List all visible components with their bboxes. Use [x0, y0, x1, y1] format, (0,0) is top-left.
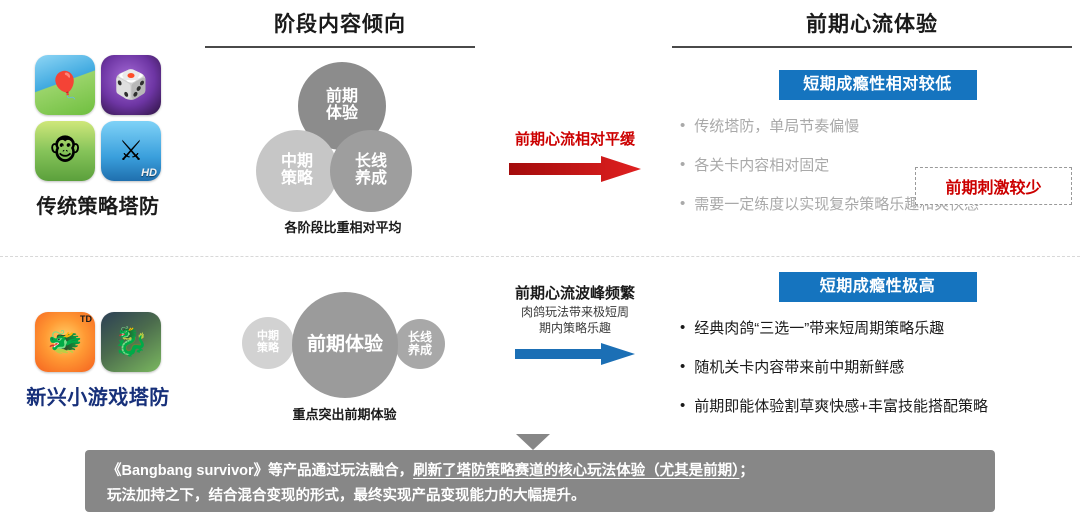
game-group-label-emerging: 新兴小游戏塔防: [8, 381, 188, 410]
btd6-glyph: 🐵: [35, 121, 95, 181]
status-badge-emerging: 短期成瘾性极高: [779, 272, 977, 302]
btd6-icon[interactable]: 🐵: [35, 121, 95, 181]
bullet-list-emerging: • 经典肉鸽“三选一”带来短周期策略乐趣 • 随机关卡内容带来前中期新鲜感 • …: [680, 320, 1075, 416]
bubble-diagram-traditional: 前期体验 中期策略 长线养成 各阶段比重相对平均: [238, 62, 448, 237]
hd-badge-icon: HD: [141, 167, 157, 179]
callout-title-emerging: 前期心流波峰频繁: [480, 282, 670, 303]
column-rule-stage: [205, 46, 475, 48]
bullet-text: 各关卡内容相对固定: [694, 157, 829, 176]
list-item: • 传统塔防，单局节奏偏慢: [680, 118, 1075, 137]
bullet-dot-icon: •: [680, 118, 685, 135]
bubble-long-growth: 长线养成: [330, 130, 412, 212]
bubble-early-experience: 前期体验: [292, 292, 398, 398]
conclusion-banner: 《Bangbang survivor》等产品通过玩法融合，刷新了塔防策略赛道的核…: [85, 450, 995, 512]
bullet-dot-icon: •: [680, 359, 685, 376]
row-divider: [0, 256, 1080, 257]
column-title-flow: 前期心流体验: [672, 8, 1072, 38]
bubble-long-growth: 长线养成: [395, 319, 445, 369]
down-arrow-icon: [516, 434, 550, 450]
bubble-mid-label: 中期策略: [281, 154, 313, 188]
list-item: • 经典肉鸽“三选一”带来短周期策略乐趣: [680, 320, 1075, 339]
survivor-icon[interactable]: 🐉: [101, 312, 161, 372]
callout-traditional: 前期心流相对平缓: [480, 128, 670, 182]
bubble-mid-strategy: 中期策略: [242, 317, 294, 369]
conclusion-line1-b: ；: [739, 463, 754, 479]
bangbang-td-icon[interactable]: 🐲 TD: [35, 312, 95, 372]
conclusion-line-1: 《Bangbang survivor》等产品通过玩法融合，刷新了塔防策略赛道的核…: [107, 459, 973, 484]
bloons-td-glyph: 🎈: [35, 55, 95, 115]
callout-subtitle-emerging: 肉鸽玩法带来极短周期内策略乐趣: [480, 304, 670, 336]
bullet-dot-icon: •: [680, 196, 685, 213]
bullet-text: 经典肉鸽“三选一”带来短周期策略乐趣: [694, 320, 944, 339]
callout-title-traditional: 前期心流相对平缓: [480, 128, 670, 149]
game-group-emerging: 🐲 TD 🐉 新兴小游戏塔防: [8, 312, 188, 410]
app-icon-grid-emerging: 🐲 TD 🐉: [8, 312, 188, 372]
bubble-caption-traditional: 各阶段比重相对平均: [238, 217, 448, 236]
conclusion-line-2: 玩法加持之下，结合混合变现的形式，最终实现产品变现能力的大幅提升。: [107, 484, 973, 509]
status-badge-traditional: 短期成瘾性相对较低: [779, 70, 977, 100]
conclusion-line1-underlined: 刷新了塔防策略赛道的核心玩法体验（尤其是前期）: [413, 463, 739, 479]
bubble-long-label: 长线养成: [408, 331, 432, 356]
blue-arrow-icon: [480, 343, 670, 365]
game-group-label-traditional: 传统策略塔防: [8, 190, 188, 219]
bubble-diagram-emerging: 中期策略 长线养成 前期体验 重点突出前期体验: [232, 292, 457, 407]
bubble-mid-label: 中期策略: [257, 331, 279, 354]
rogue-tower-icon[interactable]: 🎲: [101, 55, 161, 115]
column-title-stage: 阶段内容倾向: [205, 8, 475, 38]
survivor-glyph: 🐉: [101, 312, 161, 372]
bubble-caption-emerging: 重点突出前期体验: [232, 404, 457, 423]
bullet-text: 随机关卡内容带来前中期新鲜感: [694, 359, 904, 378]
bullet-dot-icon: •: [680, 320, 685, 337]
column-header-flow: 前期心流体验: [672, 8, 1072, 48]
bubble-mid-strategy: 中期策略: [256, 130, 338, 212]
flow-column-emerging: 短期成瘾性极高 • 经典肉鸽“三选一”带来短周期策略乐趣 • 随机关卡内容带来前…: [680, 272, 1075, 436]
bubble-early-label: 前期体验: [307, 335, 383, 355]
bloons-td-icon[interactable]: 🎈: [35, 55, 95, 115]
column-rule-flow: [672, 46, 1072, 48]
td-badge-icon: TD: [80, 314, 92, 324]
bullet-dot-icon: •: [680, 398, 685, 415]
callout-emerging: 前期心流波峰频繁 肉鸽玩法带来极短周期内策略乐趣: [480, 282, 670, 365]
list-item: • 前期即能体验割草爽快感+丰富技能搭配策略: [680, 398, 1075, 417]
red-arrow-icon: [480, 156, 670, 182]
conclusion-line1-a: 《Bangbang survivor》等产品通过玩法融合，: [107, 463, 413, 479]
slide-root: 阶段内容倾向 前期心流体验 🎈 🎲 🐵 ⚔ HD 传统策略塔防 前期体: [0, 0, 1080, 519]
rogue-tower-glyph: 🎲: [101, 55, 161, 115]
bullet-text: 传统塔防，单局节奏偏慢: [694, 118, 859, 137]
kingdom-rush-icon[interactable]: ⚔ HD: [101, 121, 161, 181]
column-header-stage: 阶段内容倾向: [205, 8, 475, 48]
game-group-traditional: 🎈 🎲 🐵 ⚔ HD 传统策略塔防: [8, 55, 188, 219]
bullet-dot-icon: •: [680, 157, 685, 174]
bubble-long-label: 长线养成: [355, 154, 387, 188]
dashed-note-callout: 前期刺激较少: [915, 167, 1072, 205]
list-item: • 随机关卡内容带来前中期新鲜感: [680, 359, 1075, 378]
flow-column-traditional: 短期成瘾性相对较低 • 传统塔防，单局节奏偏慢 • 各关卡内容相对固定 • 需要…: [680, 70, 1075, 234]
app-icon-grid-traditional: 🎈 🎲 🐵 ⚔ HD: [8, 55, 188, 181]
bullet-text: 前期即能体验割草爽快感+丰富技能搭配策略: [694, 398, 988, 417]
bubble-early-label: 前期体验: [326, 89, 358, 123]
dashed-note-text: 前期刺激较少: [945, 174, 1041, 198]
